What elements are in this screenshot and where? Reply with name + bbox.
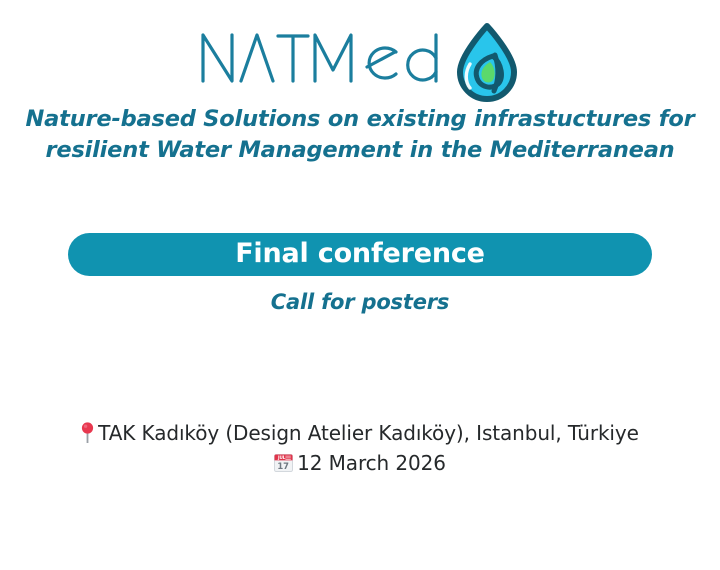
final-conference-banner: Final conference — [68, 233, 652, 276]
natmed-wordmark — [200, 22, 448, 94]
tagline-line-1: Nature-based Solutions on existing infra… — [20, 104, 700, 135]
venue-line: TAK Kadıköy (Design Atelier Kadıköy), Is… — [0, 418, 720, 448]
venue-text: TAK Kadıköy (Design Atelier Kadıköy), Is… — [98, 421, 639, 445]
round-pushpin-icon — [81, 422, 94, 444]
svg-text:17: 17 — [278, 461, 290, 471]
brand-logo-lockup — [0, 14, 720, 106]
event-logistics: TAK Kadıköy (Design Atelier Kadıköy), Is… — [0, 418, 720, 478]
date-text: 12 March 2026 — [297, 451, 446, 475]
calendar-icon: JUL 17 — [274, 451, 293, 471]
date-line: JUL 17 12 March 2026 — [0, 448, 720, 478]
tagline-line-2: resilient Water Management in the Medite… — [20, 135, 700, 166]
project-tagline: Nature-based Solutions on existing infra… — [20, 104, 700, 166]
water-drop-leaf-icon — [454, 22, 520, 102]
banner-label: Final conference — [235, 240, 485, 267]
conference-announcement-poster: Nature-based Solutions on existing infra… — [0, 0, 720, 570]
call-for-posters-subheadline: Call for posters — [0, 288, 720, 316]
svg-text:JUL: JUL — [277, 455, 286, 460]
